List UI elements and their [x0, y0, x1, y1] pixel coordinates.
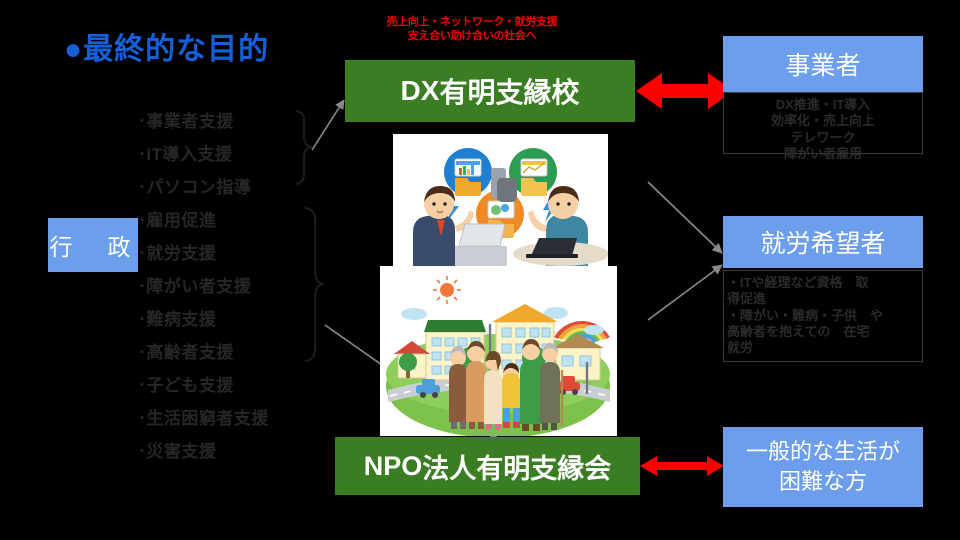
- panel-detail-jobseeker: ・ITや経理など資格 取 得促進 ・障がい・難病・子供 や 高齢者を抱えての 在…: [723, 270, 923, 362]
- list-item: ▪IT導入支援: [140, 138, 315, 171]
- dx-school-box[interactable]: DX有明支縁校: [345, 60, 635, 122]
- dx-school-prefix: DX: [401, 75, 440, 107]
- bullet-icon: ▪: [140, 248, 144, 259]
- list-item: ▪難病支援: [140, 303, 315, 336]
- panel-heading-jobseeker[interactable]: 就労希望者: [723, 216, 923, 268]
- npo-prefix: NPO: [364, 451, 423, 482]
- gov-support-list: ▪事業者支援 ▪IT導入支援 ▪パソコン指導 ▪雇用促進 ▪就労支援 ▪障がい者…: [140, 105, 315, 468]
- list-item-label: 事業者支援: [146, 113, 234, 130]
- panel-heading-business[interactable]: 事業者: [723, 36, 923, 92]
- npo-label: 法人有明支縁会: [422, 447, 611, 486]
- list-item: ▪雇用促進: [140, 204, 315, 237]
- list-item-label: 災害支援: [146, 443, 216, 460]
- list-item-label: 障がい者支援: [146, 278, 251, 295]
- detail-line: 高齢者を抱えての 在宅: [727, 324, 919, 340]
- detail-line: 就労: [727, 340, 919, 356]
- list-item-label: パソコン指導: [146, 179, 251, 196]
- list-item-label: 高齢者支援: [146, 344, 234, 361]
- arrow-npo-to-jobseeker: [648, 265, 722, 320]
- page-title: ●最終的な目的: [64, 24, 269, 68]
- bullet-icon: ▪: [140, 182, 144, 193]
- red-double-arrow-bottom: [640, 456, 724, 476]
- panel-detail-business: DX推進・IT導入 効率化・売上向上 テレワーク 障がい者雇用: [723, 92, 923, 154]
- red-caption-line1: 売上向上・ネットワーク・就労支援: [372, 16, 572, 30]
- detail-line: 障がい者雇用: [724, 146, 922, 162]
- list-item-label: 生活困窮者支援: [146, 410, 269, 427]
- slide-canvas: ●最終的な目的 売上向上・ネットワーク・就労支援 支え合い助け合いの社会へ 行 …: [0, 0, 960, 540]
- bullet-icon: ▪: [140, 215, 144, 226]
- list-item-label: 雇用促進: [146, 212, 216, 229]
- list-item: ▪事業者支援: [140, 105, 315, 138]
- detail-line: DX推進・IT導入: [724, 97, 922, 113]
- it-business-illustration: [393, 134, 608, 266]
- panel-heading-difficult-life[interactable]: 一般的な生活が 困難な方: [723, 427, 923, 507]
- bullet-icon: ▪: [140, 116, 144, 127]
- list-item: ▪災害支援: [140, 435, 315, 468]
- list-item-label: 難病支援: [146, 311, 216, 328]
- bullet-icon: ▪: [140, 413, 144, 424]
- detail-line: ・障がい・難病・子供 や: [727, 308, 919, 324]
- detail-line: テレワーク: [724, 130, 922, 146]
- panel-heading-line2: 困難な方: [779, 467, 867, 497]
- gov-box[interactable]: 行 政: [48, 218, 138, 272]
- bullet-icon: ▪: [140, 446, 144, 457]
- list-item: ▪パソコン指導: [140, 171, 315, 204]
- bullet-icon: ▪: [140, 347, 144, 358]
- bullet-icon: ▪: [140, 380, 144, 391]
- panel-heading-line1: 一般的な生活が: [746, 437, 900, 467]
- list-item-label: IT導入支援: [146, 146, 232, 163]
- dx-school-label: 有明支縁校: [439, 71, 579, 111]
- list-item: ▪障がい者支援: [140, 270, 315, 303]
- list-item-label: 就労支援: [146, 245, 216, 262]
- list-item: ▪高齢者支援: [140, 336, 315, 369]
- bullet-icon: ▪: [140, 281, 144, 292]
- list-item: ▪生活困窮者支援: [140, 402, 315, 435]
- list-item: ▪就労支援: [140, 237, 315, 270]
- red-caption: 売上向上・ネットワーク・就労支援 支え合い助け合いの社会へ: [372, 16, 572, 44]
- community-town-illustration: [380, 266, 617, 436]
- arrow-to-school: [312, 100, 344, 150]
- arrow-school-to-jobseeker: [648, 182, 722, 253]
- list-item-label: 子ども支援: [146, 377, 234, 394]
- bullet-icon: ▪: [140, 314, 144, 325]
- detail-line: 得促進: [727, 291, 919, 307]
- detail-line: ・ITや経理など資格 取: [727, 275, 919, 291]
- red-double-arrow-top: [636, 73, 734, 109]
- npo-box[interactable]: NPO法人有明支縁会: [335, 437, 640, 495]
- bullet-icon: ▪: [140, 149, 144, 160]
- red-caption-line2: 支え合い助け合いの社会へ: [372, 30, 572, 44]
- detail-line: 効率化・売上向上: [724, 113, 922, 129]
- list-item: ▪子ども支援: [140, 369, 315, 402]
